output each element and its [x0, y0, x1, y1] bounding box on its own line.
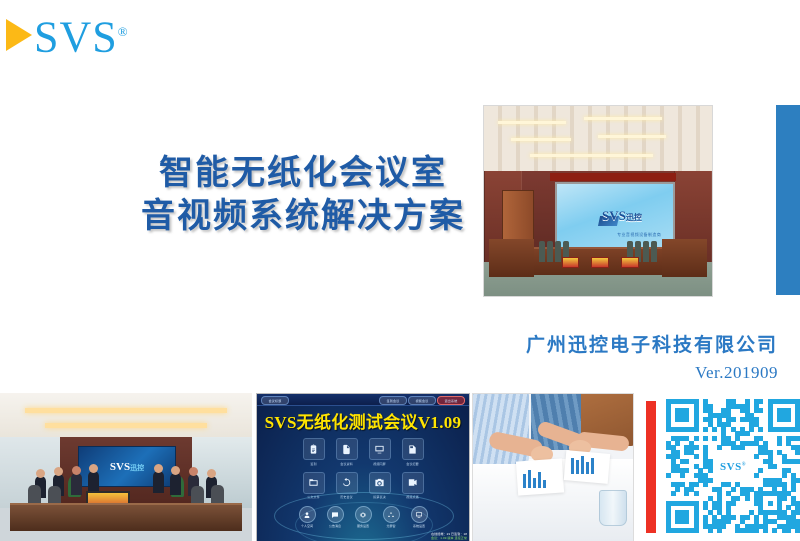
attendee: [71, 473, 82, 495]
chart-bar: [571, 458, 574, 474]
chart-bar: [533, 478, 536, 488]
logo-text: SVS: [34, 13, 118, 62]
document-icon: [336, 438, 358, 460]
water-glass: [599, 490, 627, 526]
red-accent-bar: [646, 401, 656, 533]
notes-icon: [402, 438, 424, 460]
attendee: [153, 471, 164, 493]
folder-icon: [303, 472, 325, 494]
share-icon: [383, 506, 400, 523]
topbar-button-2[interactable]: 视频会议: [408, 396, 436, 405]
bottom-image-strip: SVS迅控 会议标题 签到会议 视频会议 退出系统: [0, 393, 800, 541]
chart-bar: [591, 458, 594, 474]
meeting-room-photo: SVS迅控: [0, 393, 252, 541]
cove-light: [25, 408, 227, 413]
hero-screen-brand: SVS迅控: [602, 208, 642, 224]
version-label: Ver.201909: [695, 363, 778, 383]
topbar-button-exit[interactable]: 退出系统: [437, 396, 465, 405]
app-tile-label: 视频同屏: [373, 462, 385, 466]
chart-bar: [576, 460, 579, 474]
app-status-area: 在线终端：23 已签到：18 会议：1.09 版本 连接正常: [405, 532, 467, 540]
hero-ceiling-light: [498, 121, 566, 124]
registered-trademark-icon: ®: [118, 24, 129, 39]
logo-triangle-icon: [6, 19, 32, 51]
dock-item-label: 公告消息: [329, 524, 341, 528]
photo-ceiling: [0, 393, 252, 440]
app-tile-screen-share[interactable]: 视频同屏: [367, 438, 392, 466]
page-title: 智能无纸化会议室 音视频系统解决方案: [118, 152, 488, 238]
presentation-cover-slide: SVS® 智能无纸化会议室 音视频系统解决方案 SVS迅控 专业音视频设备制造商: [0, 0, 800, 541]
app-dock: 个人空间 公告消息 服务设置: [257, 506, 469, 528]
clipboard-icon: [303, 438, 325, 460]
topbar-button-0[interactable]: 会议标题: [261, 396, 289, 405]
chart-bar: [586, 462, 589, 474]
hero-ceiling-light: [598, 135, 666, 138]
topbar-button-1[interactable]: 签到会议: [379, 396, 407, 405]
accent-bar: [776, 105, 800, 295]
qr-center-logo: SVS®: [713, 453, 753, 481]
hero-screen-banner: [550, 173, 675, 181]
qr-code[interactable]: SVS®: [666, 399, 800, 535]
dock-item-label: 个人空间: [301, 524, 313, 528]
title-line-1: 智能无纸化会议室: [118, 152, 488, 195]
hero-document: [621, 257, 639, 268]
chart-bar: [581, 456, 584, 474]
video-icon: [402, 472, 424, 494]
settings-icon: [355, 506, 372, 523]
dock-item-label: 服务设置: [357, 524, 369, 528]
dock-item-label: 分屏窗: [386, 524, 395, 528]
title-line-2: 音视频系统解决方案: [118, 195, 488, 238]
app-tile-notes[interactable]: 会议纪要: [400, 438, 425, 466]
app-tile-label: 会议纪要: [406, 462, 418, 466]
dock-item-settings[interactable]: 服务设置: [355, 506, 372, 528]
hero-ceiling-light: [511, 138, 570, 141]
attendee: [170, 473, 181, 495]
chart-bar: [528, 470, 531, 488]
hero-conference-room-image: SVS迅控 专业音视频设备制造商: [483, 105, 713, 297]
qr-code-panel: SVS®: [636, 393, 800, 541]
hero-side-table: [662, 239, 708, 277]
conference-table: [10, 503, 242, 532]
hero-ceiling-light: [530, 154, 653, 157]
chart-bar: [543, 480, 546, 488]
status-line-2: 会议：1.09 版本 连接正常: [405, 536, 467, 540]
qr-center-text: SVS®: [720, 461, 746, 473]
company-name: 广州迅控电子科技有限公司: [526, 330, 778, 357]
logo-wordmark: SVS®: [34, 10, 129, 60]
message-icon: [327, 506, 344, 523]
dock-item-system-settings[interactable]: 系统设置: [411, 506, 428, 528]
dock-item-message[interactable]: 公告消息: [327, 506, 344, 528]
app-title: SVS无纸化测试会议V1.09: [257, 408, 469, 433]
camera-icon: [369, 472, 391, 494]
app-tile-documents[interactable]: 会议资料: [334, 438, 359, 466]
paperless-meeting-software-ui: 会议标题 签到会议 视频会议 退出系统 SVS无纸化测试会议V1.09 签到 会…: [256, 393, 470, 541]
dock-item-share[interactable]: 分屏窗: [383, 506, 400, 528]
hero-side-table: [489, 239, 535, 277]
svs-logo: SVS®: [6, 10, 129, 60]
screen-share-icon: [369, 438, 391, 460]
monitor-icon: [411, 506, 428, 523]
discussion-photo: [472, 393, 634, 541]
hero-document: [591, 257, 609, 268]
app-tile-grid: 签到 会议资料 视频同屏: [301, 438, 425, 499]
hero-screen-subtitle: 专业音视频设备制造商: [617, 232, 661, 238]
cove-light: [45, 423, 206, 428]
hero-ceiling-light: [584, 117, 662, 120]
hero-document: [562, 257, 580, 268]
chart-bar: [523, 474, 526, 488]
app-tile-checkin[interactable]: 签到: [301, 438, 326, 466]
photo-screen-brand: SVS迅控: [110, 461, 144, 473]
chart-bar: [538, 472, 541, 488]
app-tile-label: 签到: [310, 462, 316, 466]
history-icon: [336, 472, 358, 494]
user-space-icon: [299, 506, 316, 523]
dock-item-label: 系统设置: [413, 524, 425, 528]
dock-item-user-space[interactable]: 个人空间: [299, 506, 316, 528]
app-tile-label: 会议资料: [340, 462, 352, 466]
